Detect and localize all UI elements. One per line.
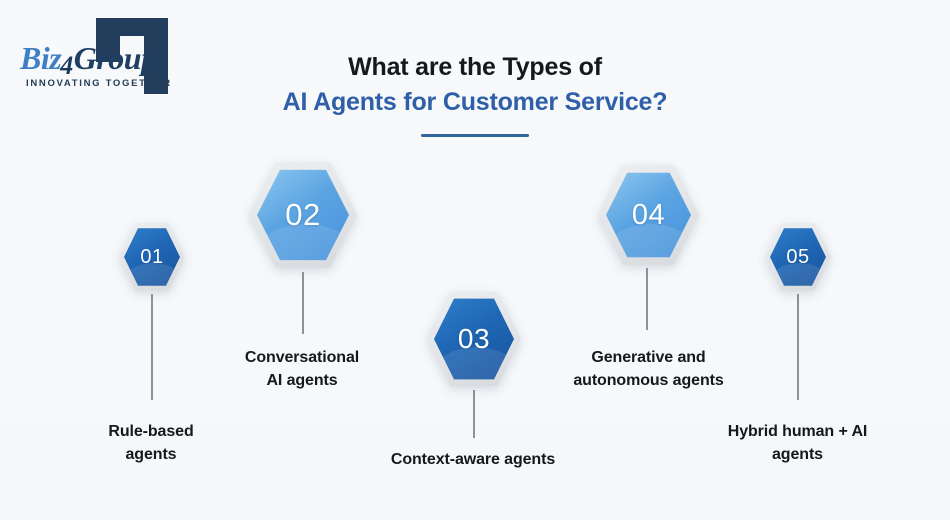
title-divider (421, 134, 529, 137)
hexagon-04[interactable]: 04 (598, 163, 699, 267)
node-label-03: Context-aware agents (358, 448, 588, 471)
node-label-05-line1: Hybrid human + AI (700, 420, 895, 443)
connector-line-04 (646, 268, 648, 330)
title-line-accent: AI Agents for Customer Service? (0, 84, 950, 120)
page-title: What are the Types of AI Agents for Cust… (0, 50, 950, 137)
node-label-01-line1: Rule-based (66, 420, 236, 443)
node-label-02-line1: Conversational (212, 346, 392, 369)
hexagon-number-03: 03 (458, 323, 490, 355)
title-line-primary: What are the Types of (0, 50, 950, 84)
node-label-02-line2: AI agents (212, 369, 392, 392)
node-label-05-line2: agents (700, 443, 895, 466)
node-label-04-line2: autonomous agents (551, 369, 746, 392)
node-label-01-line2: agents (66, 443, 236, 466)
node-label-05: Hybrid human + AI agents (700, 420, 895, 466)
node-label-03-line1: Context-aware agents (358, 448, 588, 471)
connector-line-02 (302, 272, 304, 334)
hexagon-01[interactable]: 01 (119, 222, 185, 292)
hexagon-02[interactable]: 02 (249, 160, 357, 270)
connector-line-03 (473, 390, 475, 438)
connector-line-01 (151, 294, 153, 400)
node-label-01: Rule-based agents (66, 420, 236, 466)
node-label-04: Generative and autonomous agents (551, 346, 746, 392)
hexagon-number-02: 02 (285, 197, 320, 233)
hexagon-03[interactable]: 03 (427, 290, 521, 388)
infographic-canvas: Biz4Group INNOVATING TOGETHER What are t… (0, 0, 950, 520)
node-label-02: Conversational AI agents (212, 346, 392, 392)
hexagon-number-05: 05 (786, 246, 809, 269)
node-label-04-line1: Generative and (551, 346, 746, 369)
hexagon-05[interactable]: 05 (765, 222, 831, 292)
hexagon-number-01: 01 (140, 246, 163, 269)
connector-line-05 (797, 294, 799, 400)
hexagon-number-04: 04 (632, 199, 665, 232)
